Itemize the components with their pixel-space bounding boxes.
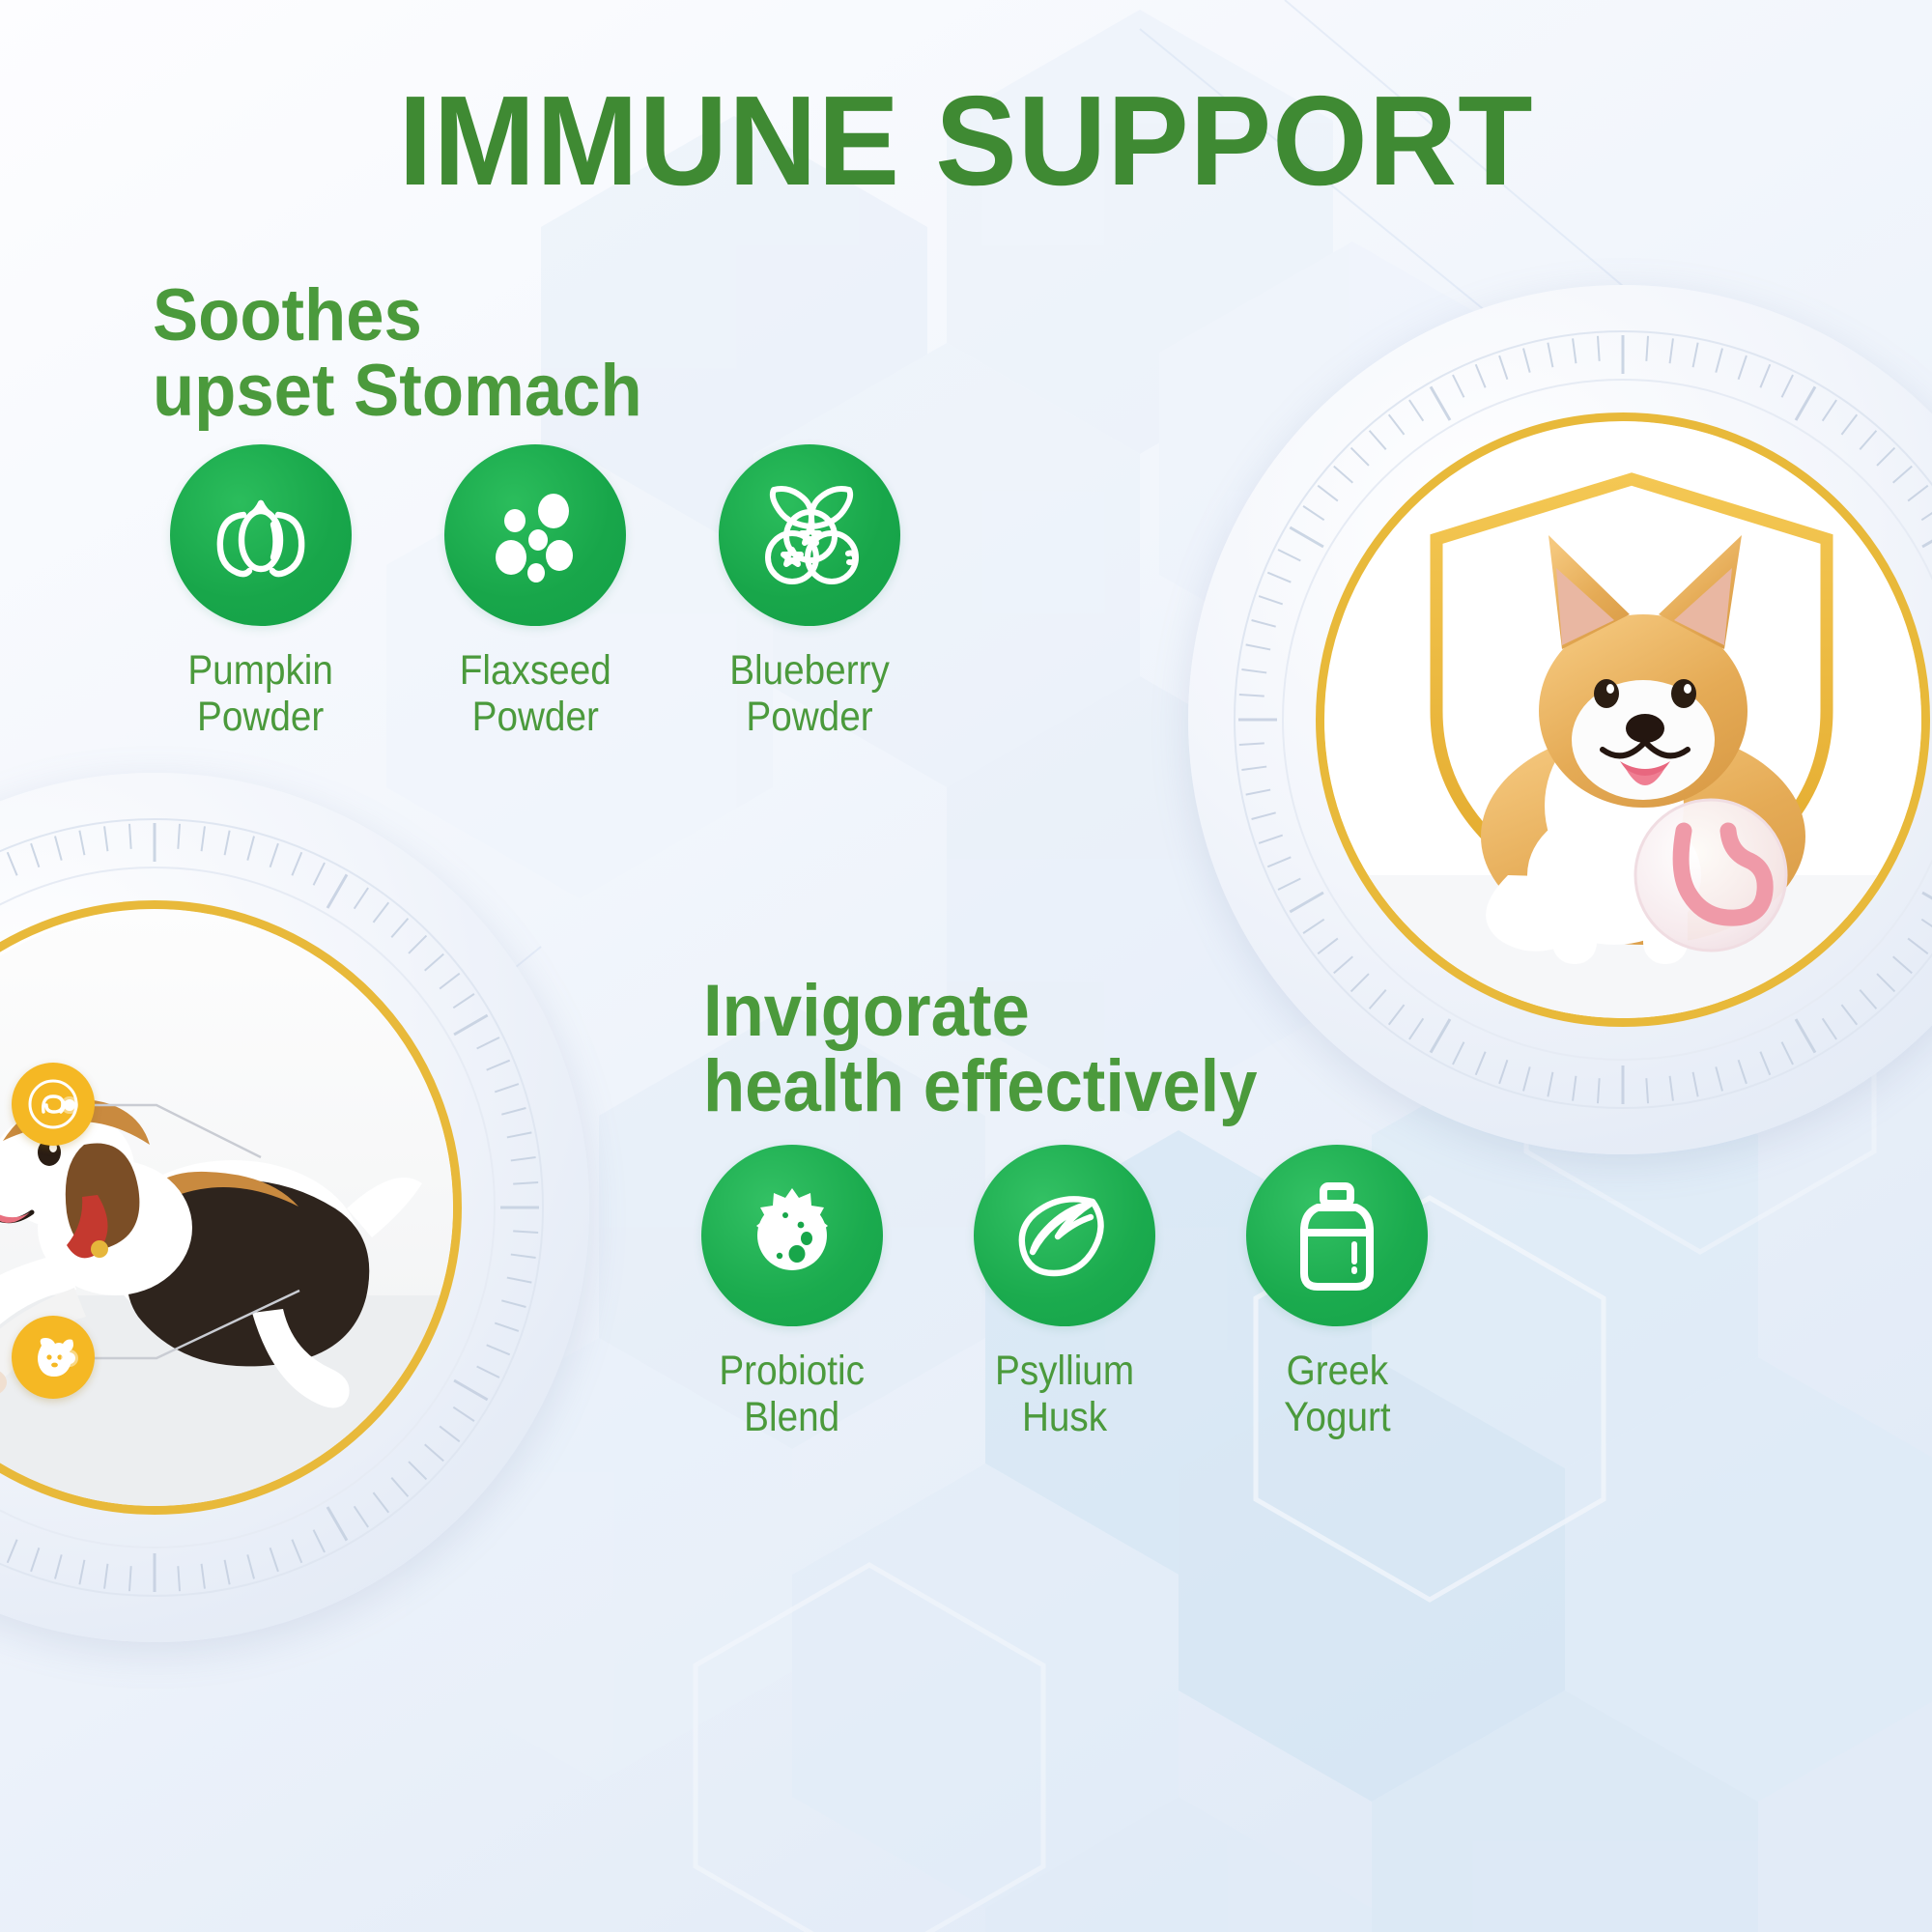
yogurt-icon-badge [1246,1145,1428,1326]
section-heading-invigorate: Invigorate health effectively [703,974,1258,1123]
callout-marker [64,1099,75,1111]
infographic-canvas: IMMUNE SUPPORT [0,0,1932,1932]
psyllium-seed-icon [1008,1179,1122,1293]
ingredient-label: Flaxseed Powder [459,647,611,740]
flaxseed-icon-badge [444,444,626,626]
ingredient-pumpkin[interactable]: Pumpkin Powder [145,444,377,740]
callout-marker [64,1352,75,1364]
ingredient-probiotic[interactable]: Probiotic Blend [676,1145,908,1440]
corgi-photo-disc [1188,285,1932,1154]
section-heading-soothes: Soothes upset Stomach [153,278,642,428]
yogurt-bottle-icon [1283,1179,1391,1293]
ingredient-blueberry[interactable]: Blueberry Powder [694,444,925,740]
blueberry-icon [751,476,868,594]
probiotic-icon-badge [701,1145,883,1326]
pumpkin-icon-badge [170,444,352,626]
stomach-icon [1635,800,1786,951]
gold-ring-frame [1316,412,1930,1027]
flaxseed-icon [478,478,592,592]
ingredient-label: Psyllium Husk [995,1348,1134,1440]
badge-intestine[interactable] [12,1063,95,1146]
page-title: IMMUNE SUPPORT [39,77,1893,205]
pumpkin-icon [204,478,318,592]
psyllium-icon-badge [974,1145,1155,1326]
ingredient-greek-yogurt[interactable]: Greek Yogurt [1221,1145,1453,1440]
ingredient-row-stomach: Pumpkin Powder Flaxseed Powder [145,444,925,740]
beagle-photo-disc [0,773,589,1642]
callout-leader-lines [0,773,589,1642]
probiotic-microbe-icon [733,1177,851,1294]
ingredient-psyllium[interactable]: Psyllium Husk [949,1145,1180,1440]
badge-dog-head[interactable] [12,1316,95,1399]
ingredient-label: Blueberry Powder [729,647,890,740]
blueberry-icon-badge [719,444,900,626]
ingredient-label: Greek Yogurt [1284,1348,1390,1440]
ingredient-label: Pumpkin Powder [188,647,334,740]
ingredient-flaxseed[interactable]: Flaxseed Powder [419,444,651,740]
ingredient-label: Probiotic Blend [720,1348,866,1440]
corgi-dog-photo [1324,421,1921,1018]
ingredient-row-health: Probiotic Blend Psyllium Husk [676,1145,1453,1440]
